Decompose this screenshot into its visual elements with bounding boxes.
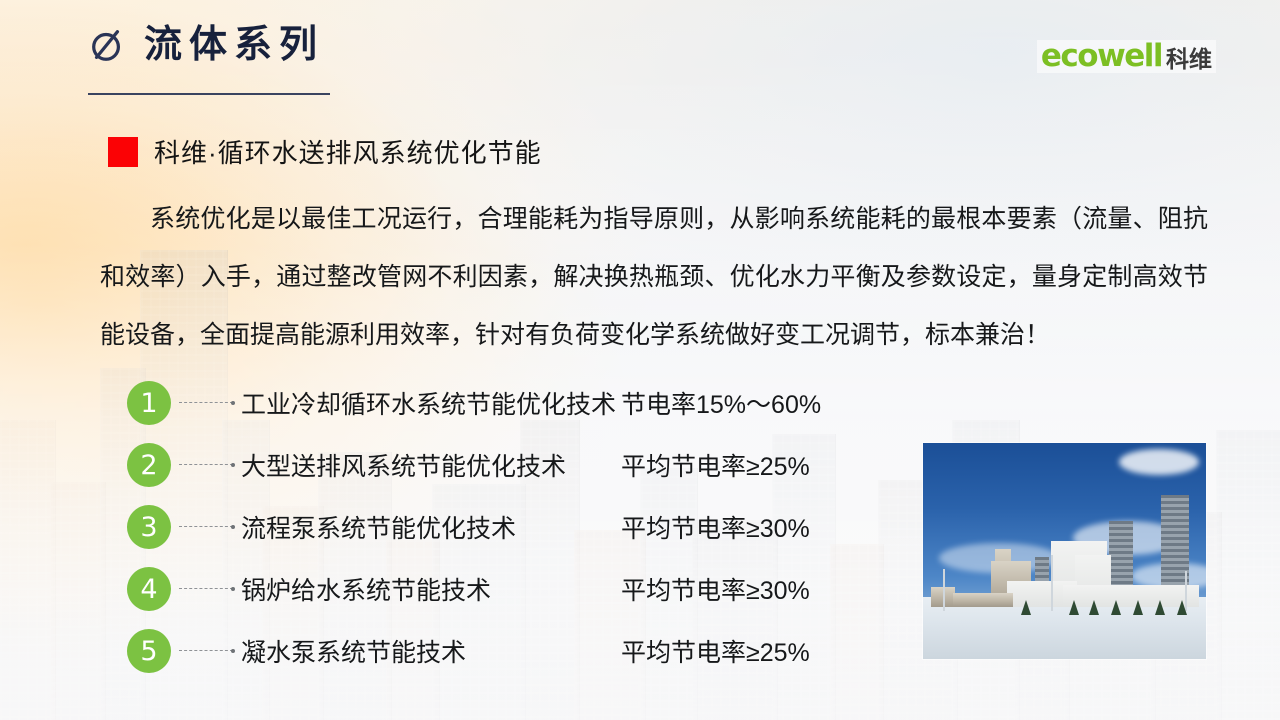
connector-line [179, 588, 233, 590]
plant-photo [923, 443, 1206, 659]
logo-wordmark: ecowell [1041, 42, 1162, 71]
list-item-label: 凝水泵系统节能技术 [241, 633, 621, 669]
diameter-icon [88, 26, 126, 64]
page-title: 流体系列 [144, 26, 324, 64]
list-item-label: 流程泵系统节能优化技术 [241, 509, 621, 545]
list-number-badge: 1 [127, 381, 171, 425]
list-item: 1 工业冷却循环水系统节能优化技术 节电率15%～60% [127, 372, 927, 434]
list-item-rate: 节电率15%～60% [621, 385, 821, 421]
list-item-rate: 平均节电率≥25% [621, 633, 810, 669]
photo-tree [1111, 600, 1121, 615]
photo-tree [1021, 600, 1031, 615]
photo-structure [953, 593, 1013, 607]
list-number-badge: 2 [127, 443, 171, 487]
presentation-slide: 流体系列 ecowell 科维 科维·循环水送排风系统优化节能 系统优化是以最佳… [0, 0, 1280, 720]
list-item: 4 锅炉给水系统节能技术 平均节电率≥30% [127, 558, 927, 620]
body-paragraph: 系统优化是以最佳工况运行，合理能耗为指导原则，从影响系统能耗的最根本要素（流量、… [100, 190, 1208, 364]
list-item: 5 凝水泵系统节能技术 平均节电率≥25% [127, 620, 927, 682]
photo-pole [943, 569, 945, 611]
connector-line [179, 402, 233, 404]
list-item: 3 流程泵系统节能优化技术 平均节电率≥30% [127, 496, 927, 558]
title-underline [88, 93, 330, 95]
list-item-label: 工业冷却循环水系统节能优化技术 [241, 385, 621, 421]
slide-header: 流体系列 [88, 26, 324, 64]
photo-tree [1089, 600, 1099, 615]
photo-tree [1133, 600, 1143, 615]
list-item-rate: 平均节电率≥25% [621, 447, 810, 483]
connector-line [179, 650, 233, 652]
connector-line [179, 464, 233, 466]
red-square-bullet-icon [108, 137, 138, 167]
photo-tree [1177, 600, 1187, 615]
list-item-rate: 平均节电率≥30% [621, 571, 810, 607]
photo-pole [1051, 555, 1053, 611]
photo-tree [1069, 600, 1079, 615]
list-item-label: 大型送排风系统节能优化技术 [241, 447, 621, 483]
list-number-badge: 3 [127, 505, 171, 549]
logo-chinese-name: 科维 [1166, 47, 1212, 71]
brand-logo: ecowell 科维 [1037, 40, 1216, 73]
list-item: 2 大型送排风系统节能优化技术 平均节电率≥25% [127, 434, 927, 496]
photo-tree [1155, 600, 1165, 615]
list-number-badge: 5 [127, 629, 171, 673]
list-number-badge: 4 [127, 567, 171, 611]
connector-line [179, 526, 233, 528]
photo-cloud [1119, 449, 1199, 475]
list-item-label: 锅炉给水系统节能技术 [241, 571, 621, 607]
technology-list: 1 工业冷却循环水系统节能优化技术 节电率15%～60% 2 大型送排风系统节能… [127, 372, 927, 682]
section-heading: 科维·循环水送排风系统优化节能 [108, 133, 542, 170]
section-title: 科维·循环水送排风系统优化节能 [154, 133, 542, 170]
list-item-rate: 平均节电率≥30% [621, 509, 810, 545]
